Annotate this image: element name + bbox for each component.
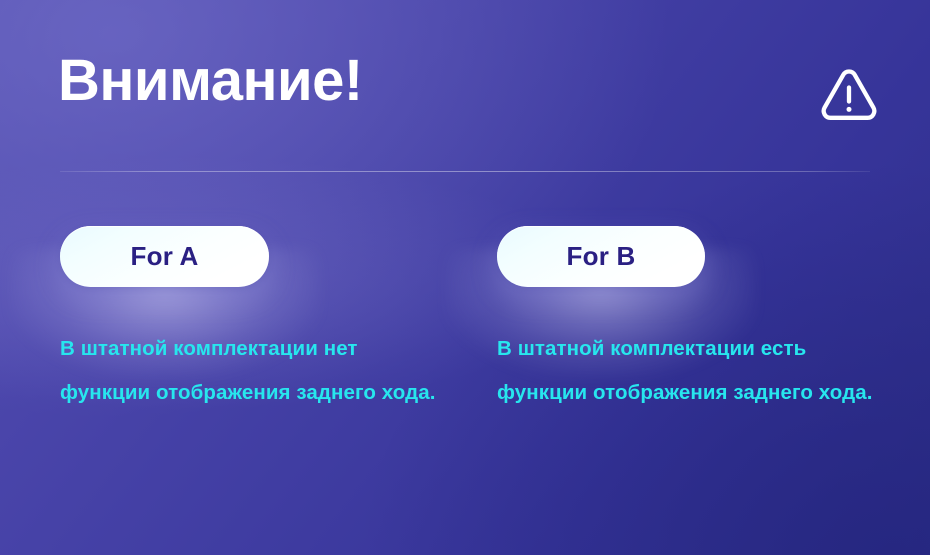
for-b-note: В штатной комплектации есть функции отоб… xyxy=(497,327,887,415)
header-divider xyxy=(60,171,870,172)
attention-notice-slide: Внимание! For A В штатной комплектации н… xyxy=(0,0,930,555)
for-a-note: В штатной комплектации нет функции отобр… xyxy=(60,327,450,415)
for-a-button-label: For A xyxy=(131,241,199,272)
pill-wrapper-b: For B xyxy=(497,226,705,287)
page-title: Внимание! xyxy=(58,52,363,110)
for-a-button[interactable]: For A xyxy=(60,226,269,287)
warning-triangle-icon xyxy=(816,62,882,128)
for-b-button-label: For B xyxy=(567,241,636,272)
pill-wrapper-a: For A xyxy=(60,226,269,287)
for-b-button[interactable]: For B xyxy=(497,226,705,287)
column-for-a: For A xyxy=(60,226,460,287)
column-for-b: For B xyxy=(497,226,897,287)
